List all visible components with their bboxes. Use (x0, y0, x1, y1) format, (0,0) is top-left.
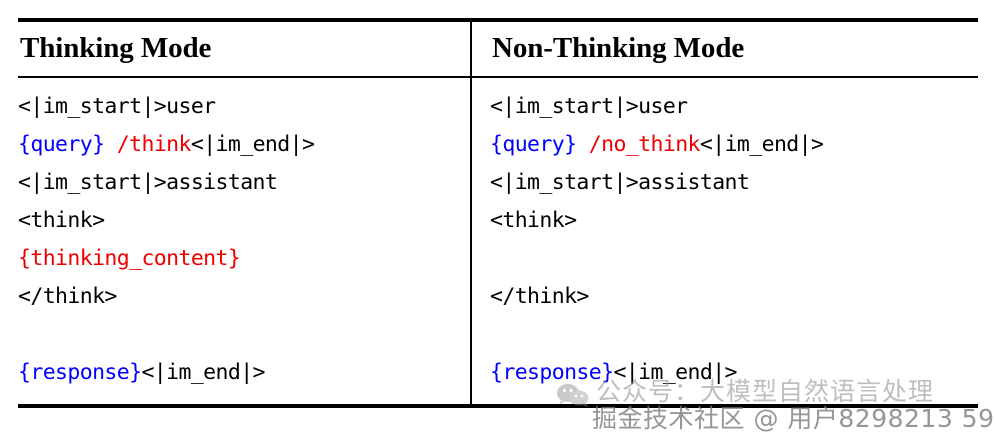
code-line: {thinking_content} (18, 240, 464, 278)
code-line: <|im_start|>user (490, 88, 990, 126)
code-token: <|im_end|> (700, 132, 823, 157)
column-header-non-thinking-mode: Non-Thinking Mode (492, 26, 744, 70)
code-token: /no_think (589, 132, 700, 157)
code-line: <|im_start|>assistant (18, 164, 464, 202)
code-token: {response} (18, 360, 141, 385)
code-token: <|im_end|> (141, 360, 264, 385)
code-token: {thinking_content} (18, 246, 240, 271)
code-token (576, 132, 588, 157)
code-line (18, 316, 464, 354)
code-token: {response} (490, 360, 613, 385)
code-line: {response}<|im_end|> (490, 354, 990, 392)
code-line: </think> (18, 278, 464, 316)
code-line: <think> (490, 202, 990, 240)
code-line: <|im_start|>assistant (490, 164, 990, 202)
code-token: <|im_start|>user (490, 94, 688, 119)
code-token: {query} (490, 132, 576, 157)
code-token (104, 132, 116, 157)
code-token: <|im_end|> (613, 360, 736, 385)
table-header-rule (18, 76, 978, 78)
code-line: {response}<|im_end|> (18, 354, 464, 392)
code-line: {query} /think<|im_end|> (18, 126, 464, 164)
code-line: <think> (18, 202, 464, 240)
code-line: <|im_start|>user (18, 88, 464, 126)
code-token: /think (117, 132, 191, 157)
code-line (490, 316, 990, 354)
table-bottom-rule (18, 404, 978, 408)
code-block-thinking-mode: <|im_start|>user{query} /think<|im_end|>… (18, 88, 464, 392)
column-header-thinking-mode: Thinking Mode (20, 26, 211, 70)
code-token: </think> (490, 284, 589, 309)
code-line: {query} /no_think<|im_end|> (490, 126, 990, 164)
code-token: <|im_start|>user (18, 94, 216, 119)
code-token: <|im_start|>assistant (490, 170, 749, 195)
table-figure: Thinking Mode Non-Thinking Mode <|im_sta… (0, 0, 996, 436)
code-line (490, 240, 990, 278)
code-token: <think> (490, 208, 576, 233)
code-token: <|im_start|>assistant (18, 170, 277, 195)
table-header-row: Thinking Mode Non-Thinking Mode (0, 26, 996, 74)
code-token: <think> (18, 208, 104, 233)
code-token: </think> (18, 284, 117, 309)
table-top-rule (18, 18, 978, 22)
code-line: </think> (490, 278, 990, 316)
code-token: <|im_end|> (191, 132, 314, 157)
code-block-non-thinking-mode: <|im_start|>user{query} /no_think<|im_en… (490, 88, 990, 392)
code-token: {query} (18, 132, 104, 157)
column-divider (470, 22, 472, 404)
